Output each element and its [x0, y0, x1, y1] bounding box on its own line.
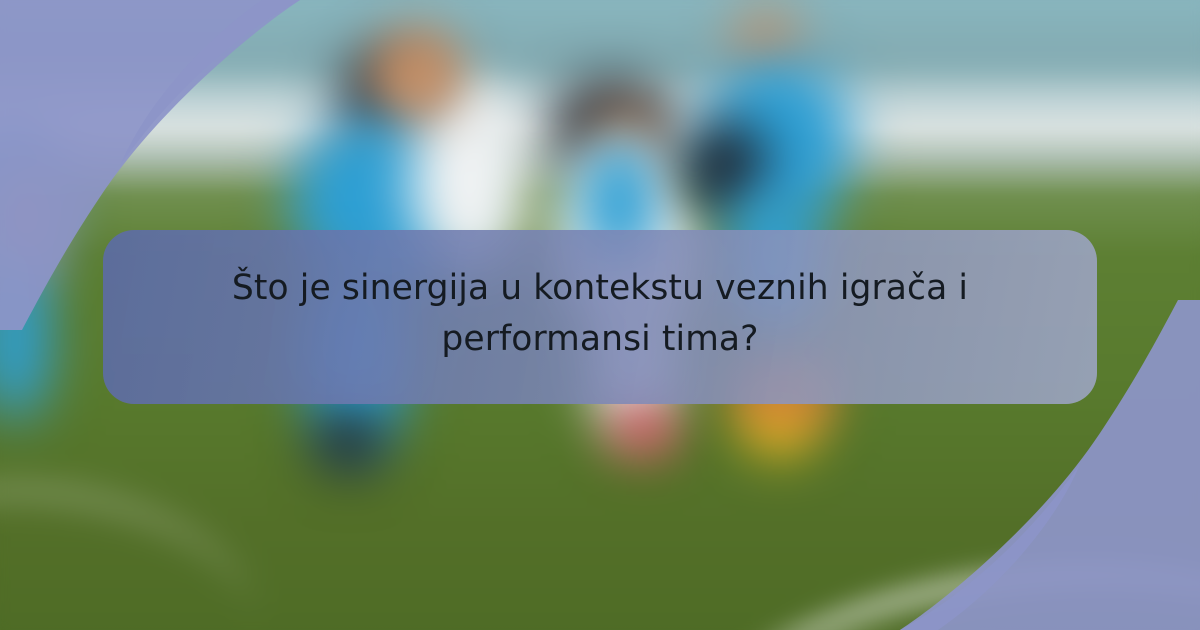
question-card: Što je sinergija u kontekstu veznih igra… — [103, 230, 1097, 404]
share-card-canvas: Što je sinergija u kontekstu veznih igra… — [0, 0, 1200, 630]
question-text: Što je sinergija u kontekstu veznih igra… — [230, 263, 970, 366]
